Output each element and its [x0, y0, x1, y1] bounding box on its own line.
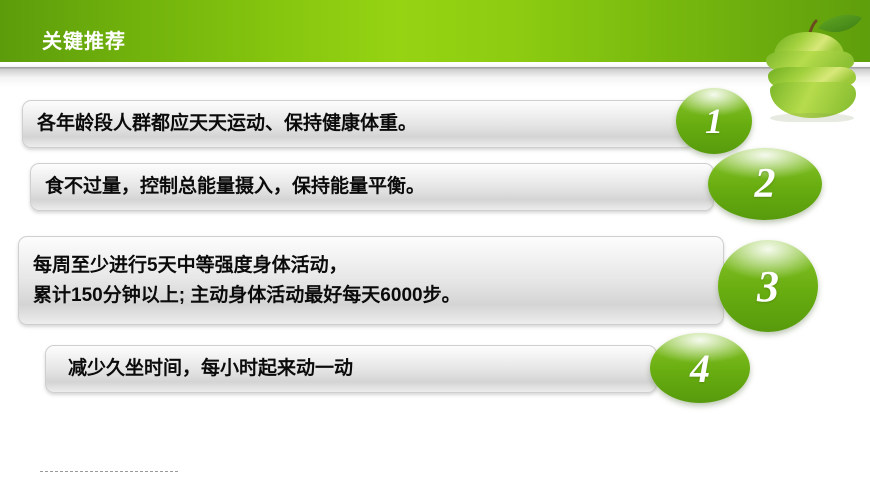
badge-number-2: 2 [755, 160, 776, 208]
recommendation-text-1: 各年龄段人群都应天天运动、保持健康体重。 [23, 109, 693, 139]
header-band [0, 0, 870, 62]
badge-number-4: 4 [690, 345, 710, 392]
recommendation-bar-4: 减少久坐时间，每小时起来动一动 [45, 345, 657, 393]
sliced-green-apple-icon [756, 4, 868, 122]
page-title: 关键推荐 [42, 25, 126, 54]
recommendation-bar-1: 各年龄段人群都应天天运动、保持健康体重。 [22, 100, 694, 148]
recommendation-badge-1: 1 [676, 88, 752, 154]
recommendation-badge-2: 2 [708, 148, 822, 220]
recommendation-text-3-line-2: 累计150分钟以上; 主动身体活动最好每天6000步。 [19, 281, 723, 311]
recommendation-text-3-line-1: 每周至少进行5天中等强度身体活动， [19, 251, 723, 281]
recommendation-text-4: 减少久坐时间，每小时起来动一动 [46, 354, 656, 384]
recommendation-text-2: 食不过量，控制总能量摄入，保持能量平衡。 [31, 172, 713, 202]
badge-number-3: 3 [757, 261, 779, 312]
footer-dashed-line [40, 471, 178, 472]
recommendation-bar-3: 每周至少进行5天中等强度身体活动， 累计150分钟以上; 主动身体活动最好每天6… [18, 236, 724, 325]
recommendation-badge-4: 4 [650, 333, 750, 403]
recommendation-badge-3: 3 [718, 240, 818, 332]
badge-number-1: 1 [705, 100, 723, 142]
header-drop-shadow [0, 69, 870, 87]
recommendation-bar-2: 食不过量，控制总能量摄入，保持能量平衡。 [30, 163, 714, 211]
